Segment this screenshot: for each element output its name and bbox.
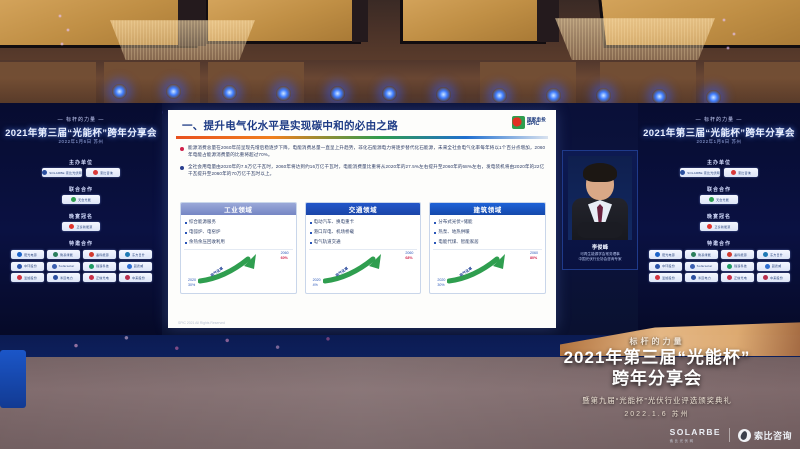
wall-panel — [0, 62, 96, 106]
presenter-photo — [568, 156, 632, 240]
sponsor-logo: 中环股份 — [649, 262, 682, 271]
sector-header: 建筑领域 — [430, 203, 545, 215]
chandelier-sparkle — [58, 14, 62, 18]
sponsor-section-heading: 主办单位 — [0, 159, 162, 166]
ceiling-beam — [352, 0, 368, 42]
solarbe-logo: SOLARBE 索比光伏网 — [670, 427, 721, 443]
sponsor-logo: 中来股份 — [119, 273, 152, 282]
sponsor-logo: Sofarsolar — [685, 262, 718, 271]
sponsor-logo-row: 天合光能 — [638, 195, 800, 204]
stage-uplight — [546, 88, 561, 103]
chandelier-sparkle — [60, 42, 64, 46]
sponsor-logo: 爱旭股份 — [11, 273, 44, 282]
sponsor-logo: 正泰新能源 — [700, 222, 738, 231]
sponsor-section-heading: 主办单位 — [638, 159, 800, 166]
sponsor-section-heading: 特邀合作 — [638, 240, 800, 247]
sponsor-logo: 索比咨询 — [724, 168, 758, 177]
logo-divider — [729, 428, 730, 442]
wall-panel — [600, 62, 696, 106]
stage-uplight — [222, 85, 237, 100]
sector-growth-chart: 电气化率 2020 30% 2060 60% — [184, 249, 293, 290]
bullet-text: 能源消费总量在2060年前呈现先增后稳逐步下降，电能消费总量一直呈上升趋势，非化… — [188, 144, 546, 158]
sponsor-logo: SOLARBE 索比光伏网 — [680, 168, 720, 177]
sponsor-logo: 禾迈电力 — [47, 273, 80, 282]
slide-heading: 一、提升电气化水平是实现碳中和的必由之路 — [182, 118, 398, 133]
sector-item-label: 电能代煤、智能家居 — [438, 239, 478, 245]
solarbe-wordmark-cn: 索比光伏网 — [670, 438, 721, 443]
sector-growth-chart: 电气化率 2020 4% 2060 68% — [309, 249, 418, 290]
sector-item-label: 电弧炉、电窑炉 — [189, 229, 220, 235]
sponsor-logo: 阳光电源 — [649, 250, 682, 259]
stage-uplight — [492, 88, 507, 103]
event-date-location: 2022.1.6 苏州 — [532, 409, 782, 419]
sponsor-logo: 隆基绿能 — [47, 250, 80, 259]
sector-item-label: 余热余压回收利用 — [189, 239, 225, 245]
sector-item-label: 电气轨道交通 — [314, 239, 341, 245]
chandelier-sparkle — [722, 18, 726, 22]
sponsor-logo: 锦浪科技 — [83, 262, 116, 271]
bullet-text: 全社会用电量由2020年的7.5万亿千瓦时，2060年将达到约16万亿千瓦时，电… — [188, 163, 546, 177]
slide-footer: SPIC 2021 All Rights Reserved — [178, 321, 225, 325]
square-bullet-icon — [434, 222, 436, 224]
sponsor-logo: 晶科能源 — [721, 250, 754, 259]
sector-item: 综合能源服务 — [181, 219, 296, 225]
presenter-hair — [583, 163, 617, 182]
sector-box-transport: 交通领域 电动汽车、换电重卡 港口岸电、机场桥载 电气轨道交通 电气化率 202… — [305, 202, 422, 294]
sector-item: 电弧炉、电窑炉 — [181, 229, 296, 235]
chart-to-label: 2060 60% — [281, 251, 289, 261]
presenter-card: 李俊峰 可再生能源学会常务理事 中国光伏行业协会咨询专家 — [562, 150, 638, 270]
square-bullet-icon — [310, 232, 312, 234]
green-arrow-icon — [447, 254, 515, 284]
green-arrow-icon — [198, 254, 266, 284]
stage-uplight — [166, 84, 181, 99]
solarbe-wordmark: SOLARBE — [670, 427, 721, 437]
sponsor-board-subtitle: 2022年1月6日 苏州 — [638, 139, 800, 145]
sponsor-board-left: — 标杆的力量 — 2021年第三届“光能杯”跨年分享会 2022年1月6日 苏… — [0, 103, 162, 335]
sector-header: 交通领域 — [306, 203, 421, 215]
sponsor-board-title: 2021年第三届“光能杯”跨年分享会 — [0, 125, 162, 139]
sector-item-label: 综合能源服务 — [189, 219, 216, 225]
sponsor-logo: 天合光能 — [62, 195, 100, 204]
sector-item-label: 港口岸电、机场桥载 — [314, 229, 354, 235]
sponsor-logo-row: 天合光能 — [0, 195, 162, 204]
sector-header: 工业领域 — [181, 203, 296, 215]
sponsor-logo: 阳光电源 — [11, 250, 44, 259]
stage-uplight — [652, 89, 667, 104]
sponsor-logo: 正信光电 — [83, 273, 116, 282]
footer-logo-bar: SOLARBE 索比光伏网 索比咨询 — [670, 427, 792, 443]
sponsor-logo: 禾迈电力 — [685, 273, 718, 282]
chart-from-label: 2020 4% — [313, 278, 321, 288]
event-subtitle: 暨第九届“光能杯”光伏行业评选颁奖典礼 — [532, 395, 782, 406]
sponsor-board-right: — 标杆的力量 — 2021年第三届“光能杯”跨年分享会 2022年1月6日 苏… — [638, 103, 800, 335]
presentation-slide: 一、提升电气化水平是实现碳中和的必由之路 国家电投 SPIC 能源消费总量在20… — [168, 110, 556, 328]
glitter-graphic — [40, 330, 400, 356]
sponsor-logo: 锦浪科技 — [721, 262, 754, 271]
sector-item: 电气轨道交通 — [306, 239, 421, 245]
square-bullet-icon — [185, 242, 187, 244]
stage-uplight — [436, 87, 451, 102]
sector-item: 热泵、地热供暖 — [430, 229, 545, 235]
square-bullet-icon — [310, 222, 312, 224]
sponsor-logo: Sofarsolar — [47, 262, 80, 271]
square-bullet-icon — [185, 232, 187, 234]
sponsor-board-title: 2021年第三届“光能杯”跨年分享会 — [638, 125, 800, 139]
ceiling-panel — [400, 0, 546, 44]
stage-uplight — [330, 86, 345, 101]
sector-item-label: 热泵、地热供暖 — [438, 229, 469, 235]
square-bullet-icon — [434, 242, 436, 244]
solarbe-consulting-logo: 索比咨询 — [738, 429, 792, 442]
sector-box-industrial: 工业领域 综合能源服务 电弧炉、电窑炉 余热余压回收利用 电气化率 2020 3… — [180, 202, 297, 294]
sponsor-logo-row: SOLARBE 索比光伏网 索比咨询 — [638, 168, 800, 177]
slide-divider — [176, 136, 548, 139]
slide-bullets: 能源消费总量在2060年前呈现先增后稳逐步下降，电能消费总量一直呈上升趋势，非化… — [180, 144, 546, 182]
sector-item: 港口岸电、机场桥载 — [306, 229, 421, 235]
slide-bullet: 能源消费总量在2060年前呈现先增后稳逐步下降，电能消费总量一直呈上升趋势，非化… — [180, 144, 546, 158]
sector-item: 电能代煤、智能家居 — [430, 239, 545, 245]
sponsor-logo-grid: 阳光电源 隆基绿能 晶科能源 东方日升 中环股份 Sofarsolar 锦浪科技… — [638, 250, 800, 282]
sponsor-logo: 固德威 — [757, 262, 790, 271]
sponsor-section-heading: 特邀合作 — [0, 240, 162, 247]
sponsor-logo: SOLARBE 索比光伏网 — [42, 168, 82, 177]
sponsor-section-heading: 联合合作 — [638, 186, 800, 193]
sponsor-logo: 正泰新能源 — [62, 222, 100, 231]
sponsor-section-heading: 晚宴冠名 — [638, 213, 800, 220]
slide-bullet: 全社会用电量由2020年的7.5万亿千瓦时，2060年将达到约16万亿千瓦时，电… — [180, 163, 546, 177]
swirl-icon — [738, 429, 751, 442]
green-arrow-icon — [323, 254, 391, 284]
sector-growth-chart: 电气化率 2020 30% 2060 80% — [433, 249, 542, 290]
wall-panel — [208, 62, 304, 106]
spic-logo: 国家电投 SPIC — [512, 116, 546, 129]
sector-item: 分布式光伏+储能 — [430, 219, 545, 225]
sector-item: 电动汽车、换电重卡 — [306, 219, 421, 225]
chart-from-label: 2020 30% — [188, 278, 196, 288]
square-bullet-icon — [310, 242, 312, 244]
sector-box-building: 建筑领域 分布式光伏+储能 热泵、地热供暖 电能代煤、智能家居 电气化率 202… — [429, 202, 546, 294]
event-title: 2021年第三届“光能杯” 跨年分享会 — [532, 347, 782, 390]
presenter-role: 可再生能源学会常务理事 中国光伏行业协会咨询专家 — [563, 252, 637, 263]
sponsor-logo: 晶科能源 — [83, 250, 116, 259]
spic-name-en: SPIC — [527, 122, 546, 127]
sponsor-logo: 固德威 — [119, 262, 152, 271]
sponsor-logo: 爱旭股份 — [649, 273, 682, 282]
sector-item-label: 分布式光伏+储能 — [438, 219, 472, 225]
sponsor-logo: 中来股份 — [757, 273, 790, 282]
chandelier-sparkle — [66, 28, 70, 32]
sponsor-logo: 东方日升 — [119, 250, 152, 259]
sponsor-logo: 天合光能 — [700, 195, 738, 204]
sponsor-logo: 中环股份 — [11, 262, 44, 271]
spic-mark-icon — [512, 116, 525, 129]
ceiling-beam — [537, 0, 559, 42]
sponsor-logo: 索比咨询 — [86, 168, 120, 177]
bullet-dot-icon — [180, 166, 184, 170]
sponsor-section-heading: 晚宴冠名 — [0, 213, 162, 220]
stage-uplight — [596, 88, 611, 103]
chart-from-label: 2020 30% — [437, 278, 445, 288]
sponsor-logo: 隆基绿能 — [685, 250, 718, 259]
conference-stage-scene: — 标杆的力量 — 2021年第三届“光能杯”跨年分享会 2022年1月6日 苏… — [0, 0, 800, 449]
sponsor-logo-row: 正泰新能源 — [0, 222, 162, 231]
stage-uplight — [112, 84, 127, 99]
sponsor-board-subtitle: 2022年1月6日 苏州 — [0, 139, 162, 145]
stage-uplight — [276, 86, 291, 101]
stage-prop-box — [0, 350, 26, 408]
square-bullet-icon — [185, 222, 187, 224]
ceiling — [0, 0, 800, 66]
solarbe-consulting-name: 索比咨询 — [754, 429, 792, 442]
sponsor-logo-row: SOLARBE 索比光伏网 索比咨询 — [0, 168, 162, 177]
chandelier-sparkle — [732, 32, 736, 36]
square-bullet-icon — [434, 232, 436, 234]
sector-box-group: 工业领域 综合能源服务 电弧炉、电窑炉 余热余压回收利用 电气化率 2020 3… — [180, 202, 546, 294]
sponsor-logo: 正信光电 — [721, 273, 754, 282]
sponsor-board-kicker: — 标杆的力量 — — [0, 116, 162, 123]
stage-uplight — [382, 86, 397, 101]
sponsor-logo-row: 正泰新能源 — [638, 222, 800, 231]
sector-item: 余热余压回收利用 — [181, 239, 296, 245]
sponsor-section-heading: 联合合作 — [0, 186, 162, 193]
sponsor-board-kicker: — 标杆的力量 — — [638, 116, 800, 123]
sponsor-logo-grid: 阳光电源 隆基绿能 晶科能源 东方日升 中环股份 Sofarsolar 锦浪科技… — [0, 250, 162, 282]
sponsor-logo: 东方日升 — [757, 250, 790, 259]
sector-item-label: 电动汽车、换电重卡 — [314, 219, 354, 225]
event-title-block: 标杆的力量 2021年第三届“光能杯” 跨年分享会 暨第九届“光能杯”光伏行业评… — [532, 336, 782, 419]
presenter-name: 李俊峰 — [563, 243, 637, 251]
presenter-arms — [577, 222, 623, 238]
event-kicker: 标杆的力量 — [532, 336, 782, 347]
chart-to-label: 2060 80% — [530, 251, 538, 261]
chandelier-sparkle — [726, 46, 730, 50]
chart-to-label: 2060 68% — [405, 251, 413, 261]
bullet-dot-icon — [180, 147, 184, 151]
